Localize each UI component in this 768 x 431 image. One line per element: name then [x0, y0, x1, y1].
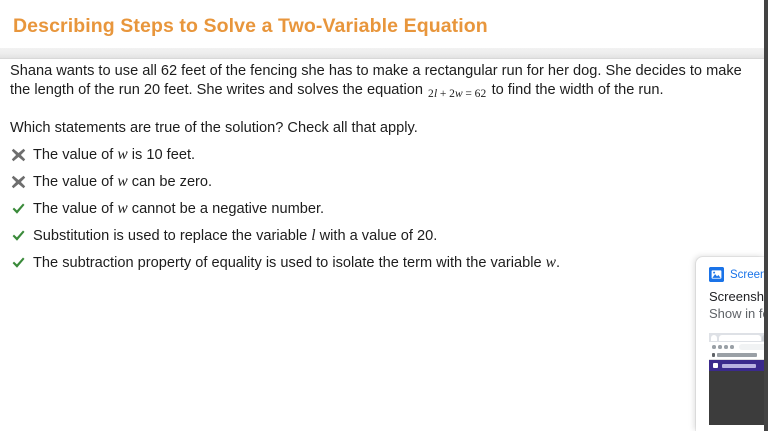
- statement-text: The subtraction property of equality is …: [33, 253, 560, 273]
- math-variable: w: [117, 146, 127, 163]
- cross-icon: [11, 147, 26, 162]
- question-prompt: Which statements are true of the solutio…: [0, 119, 764, 138]
- statement-text-fragment: with a value of 20.: [316, 228, 438, 244]
- thumb-nav-back-icon: [712, 345, 716, 349]
- header-divider: [0, 48, 764, 59]
- page-title: Describing Steps to Solve a Two-Variable…: [13, 15, 488, 38]
- statement-row[interactable]: The value of w cannot be a negative numb…: [0, 195, 764, 222]
- statement-text-fragment: The value of: [33, 201, 117, 217]
- statement-list: The value of w is 10 feet.The value of w…: [0, 141, 764, 276]
- page-header: Describing Steps to Solve a Two-Variable…: [0, 0, 764, 48]
- notification-app-name: Screen: [730, 269, 764, 281]
- thumb-page-body: [709, 371, 764, 425]
- statement-text-fragment: The value of: [33, 174, 117, 190]
- equation-equals: =: [463, 88, 475, 100]
- thumb-address-bar: [739, 344, 764, 350]
- equation-op1: +: [437, 88, 449, 100]
- statement-text-fragment: can be zero.: [128, 174, 212, 190]
- statement-text-fragment: is 10 feet.: [128, 147, 195, 163]
- statement-row[interactable]: The value of w can be zero.: [0, 168, 764, 195]
- image-icon: [709, 267, 724, 282]
- notification-title: Screensho: [709, 289, 764, 304]
- statement-text-fragment: cannot be a negative number.: [128, 201, 324, 217]
- check-icon: [11, 201, 26, 216]
- statement-text-fragment: The value of: [33, 147, 117, 163]
- problem-text-after-equation: to find the width of the run.: [488, 82, 664, 98]
- check-icon: [11, 255, 26, 270]
- statement-text: The value of w is 10 feet.: [33, 145, 195, 165]
- screenshot-notification[interactable]: Screen Screensho Show in fo: [696, 257, 764, 431]
- math-variable: w: [117, 200, 127, 217]
- thumb-nav-forward-icon: [718, 345, 722, 349]
- statement-row[interactable]: The value of w is 10 feet.: [0, 141, 764, 168]
- statement-text-fragment: Substitution is used to replace the vari…: [33, 228, 311, 244]
- problem-content: Shana wants to use all 62 feet of the fe…: [0, 62, 764, 138]
- thumb-tab: [719, 335, 761, 342]
- thumb-nav-home-icon: [730, 345, 734, 349]
- statement-text: The value of w cannot be a negative numb…: [33, 199, 324, 219]
- check-icon: [11, 228, 26, 243]
- notification-show-in-folder-action[interactable]: Show in fo: [709, 306, 764, 321]
- statement-row[interactable]: The subtraction property of equality is …: [0, 249, 764, 276]
- math-variable: w: [546, 254, 556, 271]
- notification-header: Screen: [709, 267, 764, 282]
- thumb-bookmark-label: [717, 353, 757, 357]
- thumb-app-logo-icon: [713, 363, 718, 368]
- lesson-page: Describing Steps to Solve a Two-Variable…: [0, 0, 764, 431]
- statement-text-fragment: The subtraction property of equality is …: [33, 255, 546, 271]
- window-right-edge: [764, 0, 768, 431]
- equation-var2: w: [455, 88, 463, 100]
- statement-text-fragment: .: [556, 255, 560, 271]
- equation-result: 62: [475, 88, 487, 100]
- statement-text: The value of w can be zero.: [33, 172, 212, 192]
- notification-thumbnail[interactable]: [709, 333, 764, 425]
- statement-row[interactable]: Substitution is used to replace the vari…: [0, 222, 764, 249]
- equation-inline: 2l + 2w = 62: [427, 88, 488, 100]
- problem-statement: Shana wants to use all 62 feet of the fe…: [0, 62, 764, 101]
- thumb-tab: [711, 335, 717, 342]
- statement-text: Substitution is used to replace the vari…: [33, 226, 437, 246]
- math-variable: w: [117, 173, 127, 190]
- thumb-app-title: [722, 364, 756, 368]
- cross-icon: [11, 174, 26, 189]
- thumb-nav-reload-icon: [724, 345, 728, 349]
- thumb-bookmark-icon: [712, 353, 715, 357]
